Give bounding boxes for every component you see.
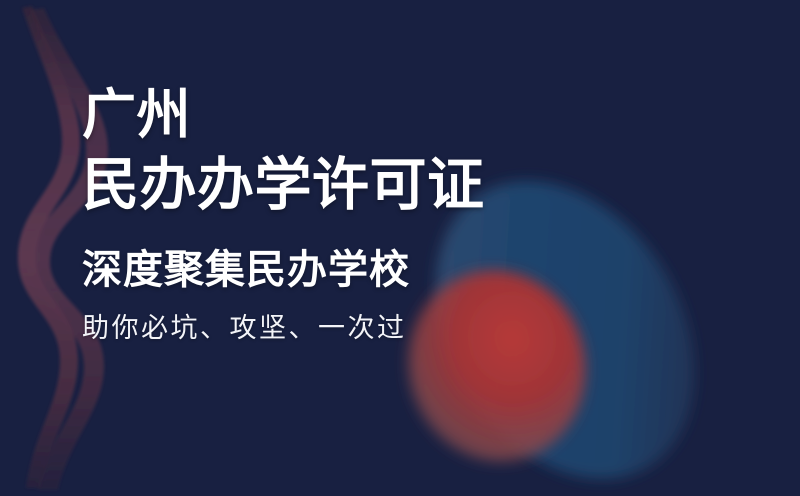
wave-ribbon-shape <box>18 6 80 488</box>
page-title: 广州 民办办学许可证 <box>82 84 602 220</box>
headline-city: 广州 <box>82 84 602 146</box>
tagline: 助你必坑、攻坚、一次过 <box>82 310 602 346</box>
subheadline: 深度聚集民办学校 <box>82 246 602 294</box>
promo-banner: 广州 民办办学许可证 深度聚集民办学校 助你必坑、攻坚、一次过 <box>0 0 800 496</box>
headline-main: 民办办学许可证 <box>82 150 602 220</box>
banner-text-content: 广州 民办办学许可证 深度聚集民办学校 助你必坑、攻坚、一次过 <box>82 84 602 346</box>
